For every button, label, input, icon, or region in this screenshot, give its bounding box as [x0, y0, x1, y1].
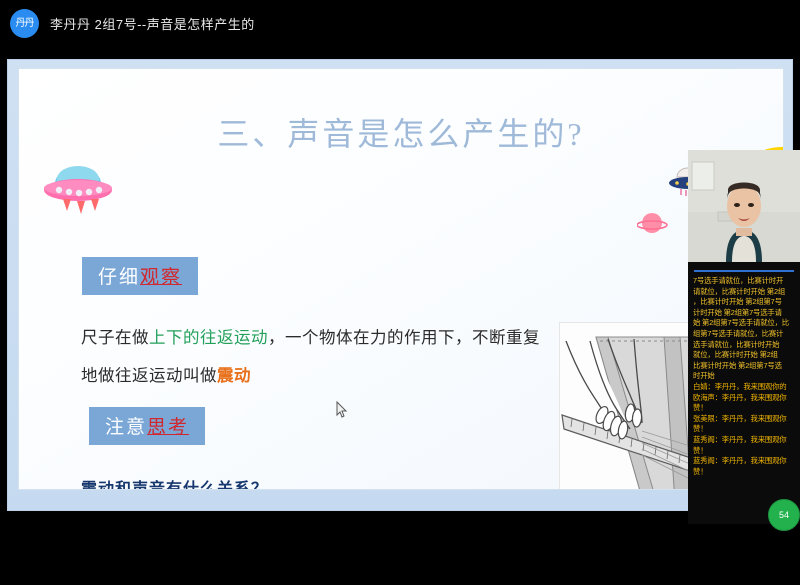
chat-panel[interactable]: 7号选手请就位，比赛计时开请就位，比赛计时开始 第2组，比赛计时开始 第2组第7… — [688, 262, 800, 524]
label-think-accent: 思考 — [147, 417, 189, 438]
chat-line: 请就位，比赛计时开始 第2组 — [693, 287, 797, 298]
para-line1-a: 尺子在做 — [81, 329, 149, 347]
label-observe: 仔细观察 — [82, 257, 198, 295]
avatar[interactable]: 丹丹 — [10, 9, 39, 38]
label-observe-accent: 观察 — [140, 267, 182, 288]
chat-line: 计时开始 第2组第7号选手请 — [693, 308, 797, 319]
chat-divider — [694, 270, 794, 272]
chat-line: 比赛计时开始 第2组第7号选 — [693, 361, 797, 372]
chat-line: 时开始 — [693, 371, 797, 382]
slide-frame: 三、声音是怎么产生的? 仔细观察 尺子在做上下的往返运动，一个物体在力的作用下，… — [7, 59, 793, 511]
label-think: 注意思考 — [89, 407, 205, 445]
page-title: 李丹丹 2组7号--声音是怎样产生的 — [50, 14, 255, 33]
slide-title: 三、声音是怎么产生的? — [19, 109, 783, 155]
chat-message: 欧海声：李丹丹，我来围观你 — [693, 393, 797, 404]
planet-icon — [637, 209, 669, 239]
chat-message-list[interactable]: 7号选手请就位，比赛计时开请就位，比赛计时开始 第2组，比赛计时开始 第2组第7… — [693, 276, 797, 477]
para-line2-orange: 震动 — [217, 367, 251, 385]
chat-message: 蓝秀阁：李丹丹，我来围观你 — [693, 435, 797, 446]
chat-line: 组第7号选手请就位，比赛计 — [693, 329, 797, 340]
chat-message: 赞！ — [693, 424, 797, 435]
label-think-plain: 注意 — [105, 417, 147, 438]
chat-message: 赞！ — [693, 446, 797, 457]
chat-message: 张美限：李丹丹，我来围观你 — [693, 414, 797, 425]
ufo-pink-icon — [39, 157, 117, 219]
unread-badge[interactable]: 54 — [768, 499, 800, 531]
question-text: 震动和声音有什么关系？ — [81, 475, 268, 490]
app-root: 丹丹 李丹丹 2组7号--声音是怎样产生的 — [0, 0, 800, 585]
chat-line: 始 第2组第7号选手请就位，比 — [693, 318, 797, 329]
chat-message: 蓝秀阁：李丹丹，我来围观你 — [693, 456, 797, 467]
body-paragraph: 尺子在做上下的往返运动，一个物体在力的作用下，不断重复地做往返运动叫做震动 — [81, 319, 551, 395]
chat-message: 赞！ — [693, 403, 797, 414]
chat-line: 就位，比赛计时开始 第2组 — [693, 350, 797, 361]
label-observe-plain: 仔细 — [98, 267, 140, 288]
chat-line: ，比赛计时开始 第2组第7号 — [693, 297, 797, 308]
chat-message: 白婧：李丹丹，我来围观你的 — [693, 382, 797, 393]
ruler-vibration-illustration — [559, 322, 707, 490]
chat-line: 选手请就位，比赛计时开始 — [693, 340, 797, 351]
top-bar: 丹丹 李丹丹 2组7号--声音是怎样产生的 — [0, 0, 800, 47]
slide-canvas[interactable]: 三、声音是怎么产生的? 仔细观察 尺子在做上下的往返运动，一个物体在力的作用下，… — [18, 68, 784, 490]
chat-message: 赞！ — [693, 467, 797, 478]
para-line1-b: ，一个物体在力的作用下，不断重 — [268, 329, 523, 347]
mouse-cursor — [336, 401, 348, 418]
chat-line: 7号选手请就位，比赛计时开 — [693, 276, 797, 287]
para-line1-green: 上下的往返运动 — [149, 329, 268, 347]
teacher-video-feed[interactable] — [688, 150, 800, 262]
